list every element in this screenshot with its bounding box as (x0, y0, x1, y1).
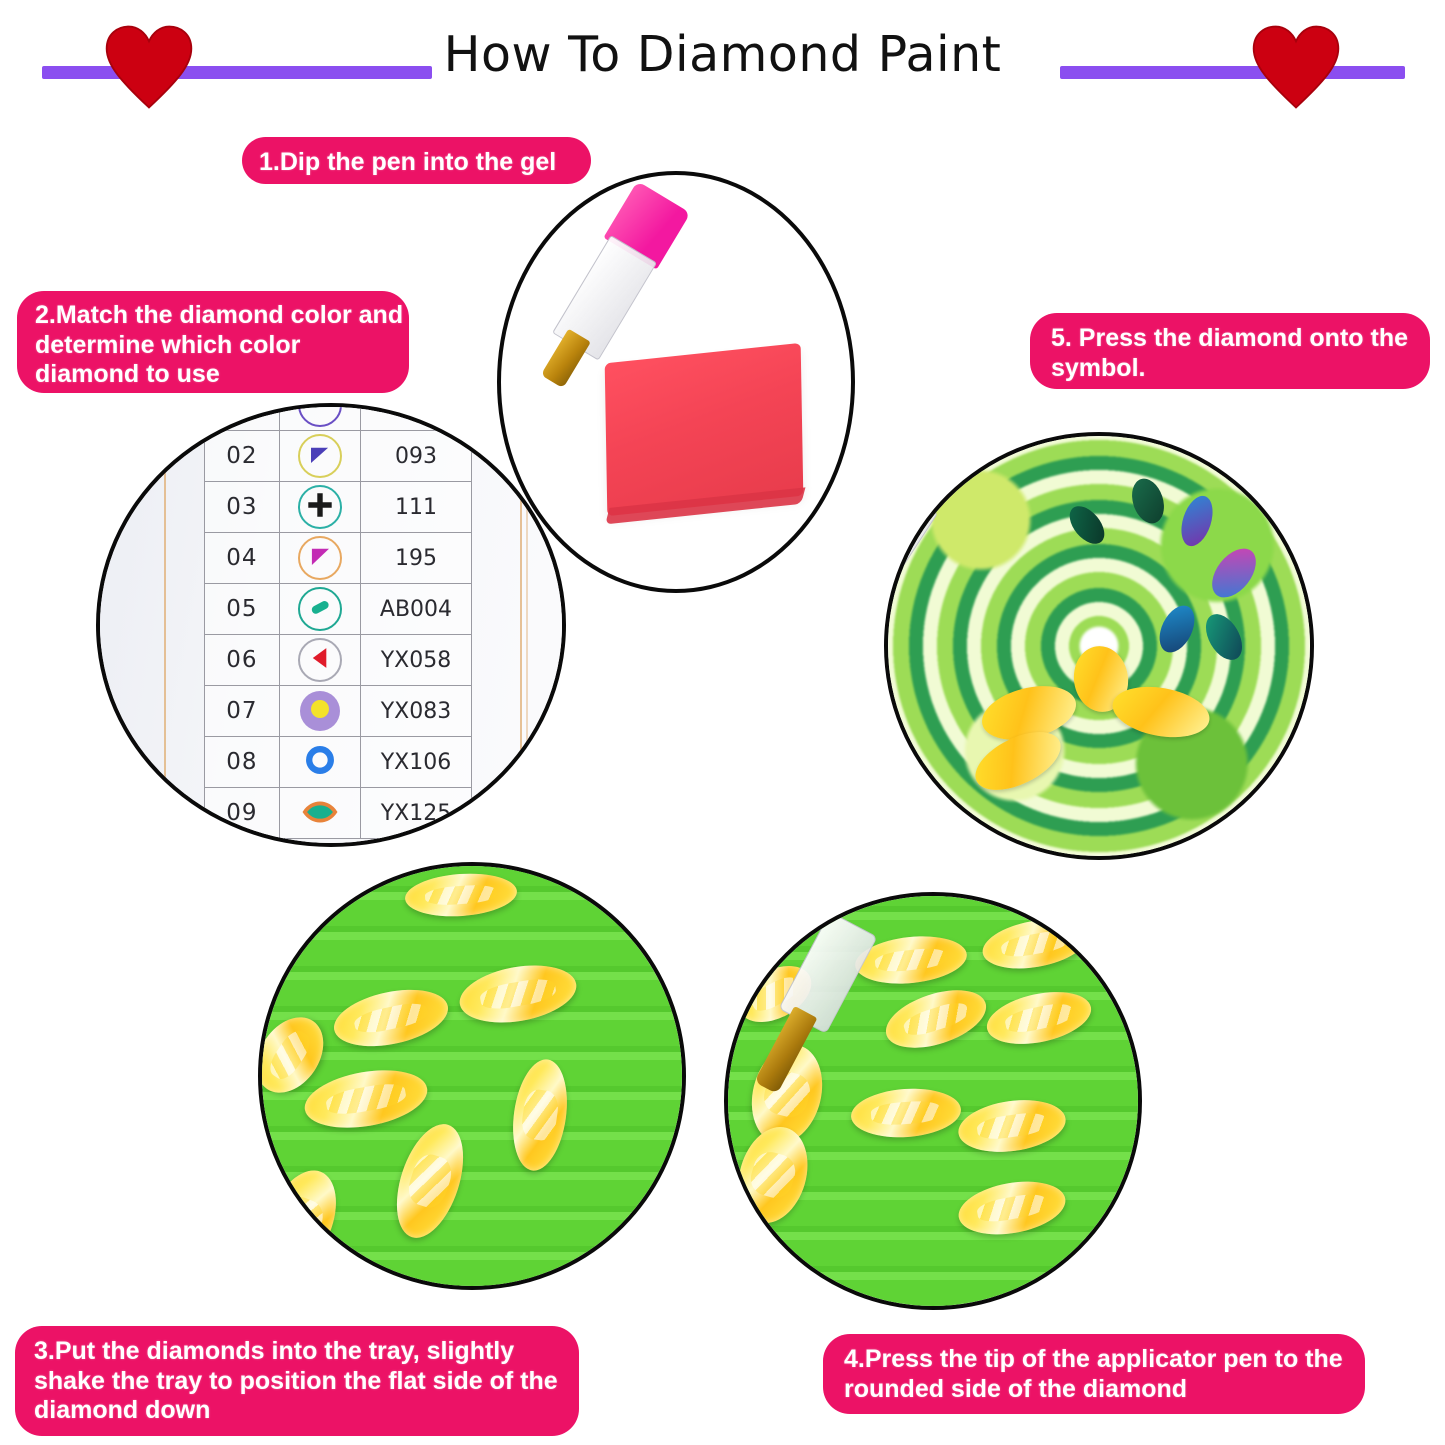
gem-dark (1198, 608, 1249, 666)
chart-paper: 028 02 093 03 (100, 407, 562, 843)
diamond-gem (982, 984, 1096, 1053)
pen-tip-brass (541, 329, 591, 389)
diamond-gem (300, 1061, 431, 1136)
red-gel-square (605, 343, 804, 516)
gem-dark (1153, 600, 1202, 658)
cell-dmc: AB004 (360, 584, 471, 635)
diamond-gem (954, 1174, 1069, 1242)
diamond-gem-target (849, 1085, 962, 1141)
diamond-gem (258, 1161, 350, 1283)
table-row: 04 195 (205, 533, 472, 584)
table-row: 02 093 (205, 431, 472, 482)
triangle-blue-icon (279, 431, 360, 482)
dot-yellow-icon (279, 686, 360, 737)
table-row: 03 111 (205, 482, 472, 533)
cell-code: 08 (205, 737, 280, 788)
cell-code: 09 (205, 788, 280, 839)
diamond-gem (384, 1116, 476, 1246)
diamond-gem (728, 1118, 818, 1230)
tray-diamonds (728, 896, 1138, 1306)
photo-pen-pressing-diamond (724, 892, 1142, 1310)
triangle-magenta-icon (279, 533, 360, 584)
pen-cap-pink (906, 432, 973, 488)
cell-dmc: 111 (360, 482, 471, 533)
table-row: 08 YX106 (205, 737, 472, 788)
table-row: 07 YX083 (205, 686, 472, 737)
cell-dmc: 028 (360, 403, 471, 431)
table-row: 09 YX125 (205, 788, 472, 839)
cell-dmc: YX125 (360, 788, 471, 839)
table-row: 05 AB004 (205, 584, 472, 635)
cell-dmc: YX106 (360, 737, 471, 788)
page-header: How To Diamond Paint (0, 0, 1445, 120)
table-row: 028 (205, 403, 472, 431)
paper-edge (164, 407, 166, 843)
leaf-teal-icon (279, 788, 360, 839)
diamond-gem (955, 1094, 1069, 1159)
ring-blue-icon (279, 737, 360, 788)
cell-code (205, 403, 280, 431)
cell-code: 03 (205, 482, 280, 533)
double-dot-icon (279, 403, 360, 431)
photo-symbol-chart: 028 02 093 03 (96, 403, 566, 847)
diamond-gem (329, 981, 453, 1056)
diamond-gem (456, 957, 582, 1031)
mandala-gems (888, 436, 1310, 856)
chevron-red-icon (279, 635, 360, 686)
page-title: How To Diamond Paint (0, 26, 1445, 83)
table-row: 06 YX058 (205, 635, 472, 686)
tray-diamonds (262, 866, 682, 1286)
step-2-label: 2.Match the diamond color and determine … (18, 292, 408, 392)
cell-code: 04 (205, 533, 280, 584)
cell-code: 06 (205, 635, 280, 686)
paper-edge (520, 407, 522, 843)
cell-dmc: YX083 (360, 686, 471, 737)
cell-code: 07 (205, 686, 280, 737)
capsule-teal-icon (279, 584, 360, 635)
paper-edge (526, 407, 528, 843)
diamond-gem (879, 980, 993, 1060)
plus-icon (279, 482, 360, 533)
photo-diamond-onto-symbol (884, 432, 1314, 860)
cell-dmc: 093 (360, 431, 471, 482)
step-5-label: 5. Press the diamond onto the symbol. (1031, 314, 1429, 388)
diamond-gem (979, 912, 1091, 976)
gem-dark (1063, 500, 1111, 550)
gem-dark (1126, 474, 1169, 527)
symbol-legend-table: 028 02 093 03 (204, 403, 472, 839)
gem-dark (1176, 492, 1219, 550)
cell-dmc: YX058 (360, 635, 471, 686)
diamond-gem (403, 871, 518, 921)
cell-code: 05 (205, 584, 280, 635)
diamond-gem (506, 1056, 573, 1174)
applicator-pen (884, 432, 973, 641)
gem-dark (1204, 541, 1265, 606)
step-3-label: 3.Put the diamonds into the tray, slight… (16, 1327, 578, 1435)
step-4-label: 4.Press the tip of the applicator pen to… (824, 1335, 1364, 1413)
photo-diamonds-in-tray (258, 862, 686, 1290)
cell-code: 02 (205, 431, 280, 482)
pen-body-clear (884, 484, 938, 609)
cell-dmc: 195 (360, 533, 471, 584)
